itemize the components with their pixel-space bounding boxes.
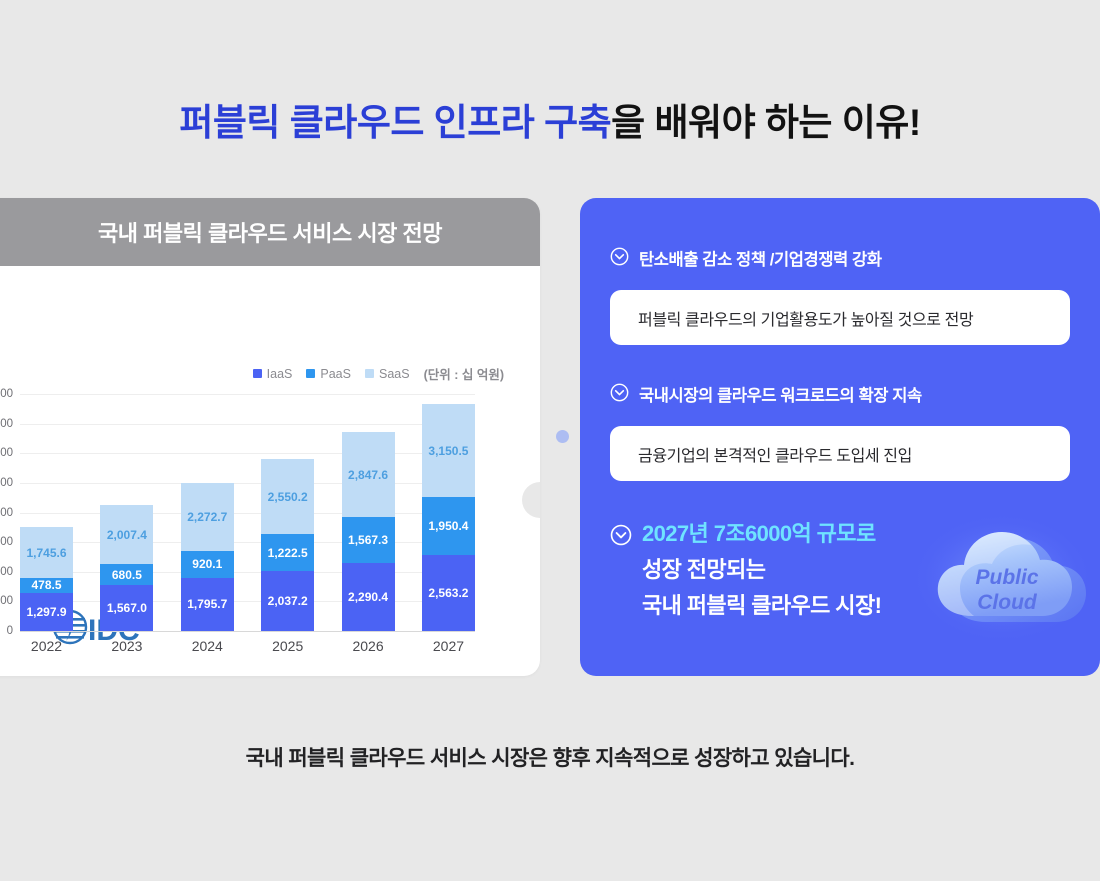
bar-segment-iaas-2023: 1,567.0 xyxy=(100,585,153,631)
bullet-heading-1: 탄소배출 감소 정책 /기업경쟁력 강화 xyxy=(639,246,882,270)
y-tick-6000: 6,000 xyxy=(0,447,13,459)
y-tick-7000: 7,000 xyxy=(0,418,13,430)
bar-column: 3,150.51,950.42,563.2 xyxy=(422,404,475,631)
final-statement-line1: 2027년 7조6000억 규모로 xyxy=(642,521,876,546)
page-title-rest: 을 배워야 하는 이유! xyxy=(611,102,920,143)
cloud-label-line2: Cloud xyxy=(977,591,1038,614)
y-tick-5000: 5,000 xyxy=(0,477,13,489)
check-circle-icon xyxy=(610,247,629,271)
legend-label-iaas: IaaS xyxy=(267,367,293,381)
bar-group: 1,745.6478.51,297.92,007.4680.51,567.02,… xyxy=(20,394,475,631)
legend-label-paas: PaaS xyxy=(320,367,351,381)
x-axis-label-2027: 2027 xyxy=(422,638,475,654)
page-title-highlight: 퍼블릭 클라우드 인프라 구축 xyxy=(179,102,611,143)
bar-segment-iaas-2027: 2,563.2 xyxy=(422,555,475,631)
bar-segment-paas-2022: 478.5 xyxy=(20,578,73,592)
bullet-body-box-2: 금융기업의 본격적인 클라우드 도입세 진입 xyxy=(610,426,1070,481)
cloud-label-line1: Public xyxy=(975,566,1038,589)
x-axis-label-2022: 2022 xyxy=(20,638,73,654)
info-panel: 탄소배출 감소 정책 /기업경쟁력 강화 퍼블릭 클라우드의 기업활용도가 높아… xyxy=(580,198,1100,676)
x-axis-label-2026: 2026 xyxy=(342,638,395,654)
bar-segment-saas-2023: 2,007.4 xyxy=(100,505,153,564)
bar-segment-saas-2025: 2,550.2 xyxy=(261,459,314,535)
x-axis-labels: 202220232024202520262027 xyxy=(20,638,475,654)
page-title: 퍼블릭 클라우드 인프라 구축을 배워야 하는 이유! xyxy=(0,92,1100,146)
public-cloud-graphic: Public Cloud xyxy=(910,498,1095,653)
legend-item-paas: PaaS xyxy=(306,367,351,381)
chart-card-header: 국내 퍼블릭 클라우드 서비스 시장 전망 xyxy=(0,198,540,266)
legend-swatch-paas xyxy=(306,369,315,378)
bullet-item-1: 탄소배출 감소 정책 /기업경쟁력 강화 xyxy=(610,246,882,271)
chart-unit-note: (단위 : 십 억원) xyxy=(424,364,504,383)
bullet-body-1: 퍼블릭 클라우드의 기업활용도가 높아질 것으로 전망 xyxy=(638,306,973,330)
bar-segment-saas-2026: 2,847.6 xyxy=(342,432,395,516)
bar-column: 2,007.4680.51,567.0 xyxy=(100,505,153,631)
bullet-body-2: 금융기업의 본격적인 클라우드 도입세 진입 xyxy=(638,442,912,466)
legend-item-saas: SaaS xyxy=(365,367,410,381)
y-tick-3000: 3,000 xyxy=(0,536,13,548)
carousel-dot[interactable] xyxy=(556,430,569,443)
bar-segment-iaas-2025: 2,037.2 xyxy=(261,571,314,631)
bullet-item-3: 2027년 7조6000억 규모로 성장 전망되는 국내 퍼블릭 클라우드 시장… xyxy=(610,516,881,624)
x-axis-label-2025: 2025 xyxy=(261,638,314,654)
bullet-heading-2: 국내시장의 클라우드 워크로드의 확장 지속 xyxy=(639,382,922,406)
bar-segment-paas-2026: 1,567.3 xyxy=(342,517,395,563)
final-statement-line2: 성장 전망되는 xyxy=(642,557,765,582)
chart-body: IaaS PaaS SaaS (단위 : 십 억원) xyxy=(0,266,540,676)
y-tick-8000: 8,000 xyxy=(0,388,13,400)
bar-segment-saas-2027: 3,150.5 xyxy=(422,404,475,497)
bar-segment-iaas-2022: 1,297.9 xyxy=(20,593,73,631)
legend-swatch-iaas xyxy=(253,369,262,378)
bullet-body-box-1: 퍼블릭 클라우드의 기업활용도가 높아질 것으로 전망 xyxy=(610,290,1070,345)
bar-column: 1,745.6478.51,297.9 xyxy=(20,527,73,631)
card-notch xyxy=(522,482,540,518)
bar-segment-paas-2027: 1,950.4 xyxy=(422,497,475,555)
x-axis-label-2023: 2023 xyxy=(100,638,153,654)
chart-plot-area: 8,000 7,000 6,000 5,000 4,000 3,000 2,00… xyxy=(20,394,475,631)
bar-segment-iaas-2026: 2,290.4 xyxy=(342,563,395,631)
check-circle-icon xyxy=(610,521,632,557)
chart-title: 국내 퍼블릭 클라우드 서비스 시장 전망 xyxy=(58,216,442,248)
bullet-item-2: 국내시장의 클라우드 워크로드의 확장 지속 xyxy=(610,382,922,407)
legend-item-iaas: IaaS xyxy=(253,367,293,381)
final-statement: 2027년 7조6000억 규모로 성장 전망되는 국내 퍼블릭 클라우드 시장… xyxy=(642,516,881,624)
final-statement-line3: 국내 퍼블릭 클라우드 시장! xyxy=(642,593,881,618)
y-tick-4000: 4,000 xyxy=(0,507,13,519)
bar-segment-saas-2024: 2,272.7 xyxy=(181,483,234,550)
x-axis-label-2024: 2024 xyxy=(181,638,234,654)
legend-label-saas: SaaS xyxy=(379,367,410,381)
bar-segment-paas-2023: 680.5 xyxy=(100,564,153,584)
bar-segment-iaas-2024: 1,795.7 xyxy=(181,578,234,631)
x-axis-line xyxy=(20,631,475,632)
bottom-caption: 국내 퍼블릭 클라우드 서비스 시장은 향후 지속적으로 성장하고 있습니다. xyxy=(0,742,1100,772)
bar-segment-paas-2024: 920.1 xyxy=(181,551,234,578)
check-circle-icon xyxy=(610,383,629,407)
legend-swatch-saas xyxy=(365,369,374,378)
chart-legend: IaaS PaaS SaaS (단위 : 십 억원) xyxy=(253,364,504,383)
bar-column: 2,550.21,222.52,037.2 xyxy=(261,459,314,631)
y-tick-1000: 1,000 xyxy=(0,595,13,607)
bar-column: 2,272.7920.11,795.7 xyxy=(181,483,234,631)
y-tick-2000: 2,000 xyxy=(0,566,13,578)
bar-segment-paas-2025: 1,222.5 xyxy=(261,534,314,570)
y-tick-0: 0 xyxy=(7,625,13,637)
chart-card: 국내 퍼블릭 클라우드 서비스 시장 전망 IaaS PaaS SaaS (단위… xyxy=(0,198,540,676)
bar-segment-saas-2022: 1,745.6 xyxy=(20,527,73,579)
bar-column: 2,847.61,567.32,290.4 xyxy=(342,432,395,631)
